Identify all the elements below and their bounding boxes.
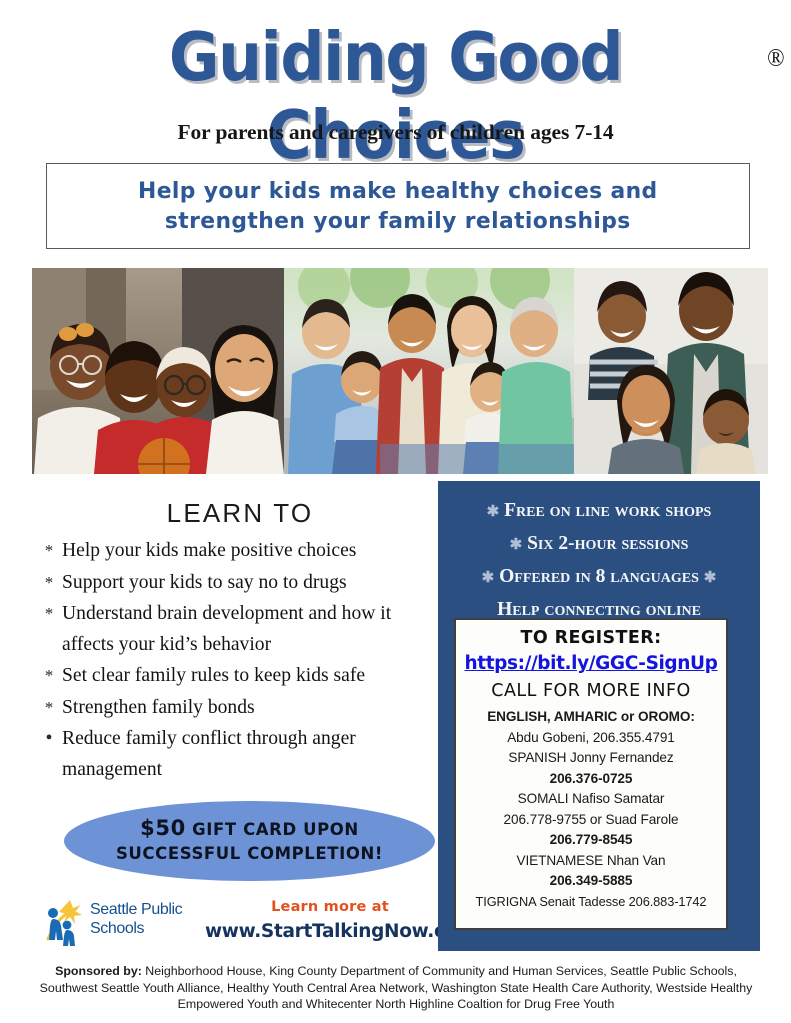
gift-card-line-2: SUCCESSFUL COMPLETION! [116, 842, 383, 866]
bullet-icon: * [36, 568, 62, 599]
contact-row: ENGLISH, AMHARIC or OROMO: [462, 707, 720, 728]
contact-language: ENGLISH, AMHARIC or OROMO: [487, 709, 695, 724]
register-box: TO REGISTER: https://bit.ly/GGC-SignUp C… [454, 618, 728, 930]
list-item: * Understand brain development and how i… [36, 599, 446, 660]
list-item: * Support your kids to say no to drugs [36, 568, 446, 599]
gift-card-line-1: $50 GIFT CARD UPON [116, 816, 383, 842]
contacts-list: ENGLISH, AMHARIC or OROMO: Abdu Gobeni, … [462, 707, 720, 912]
info-panel-bullets: ✱ Free on line work shops ✱ Six 2-hour s… [438, 481, 760, 625]
learn-more-block: Learn more at www.StartTalkingNow.org [205, 899, 455, 942]
photo-girls-group [32, 268, 284, 474]
photo-family-outdoors [284, 268, 574, 474]
gift-card-amount: $50 [140, 816, 186, 840]
contact-phone: 206.376-0725 [550, 771, 633, 786]
photo-strip [32, 268, 768, 474]
call-for-info-label: CALL FOR MORE INFO [462, 681, 720, 701]
contact-row: 206.779-8545 [462, 830, 720, 851]
info-bullet-label: Free on line work shops [504, 500, 711, 521]
list-item: * Strengthen family bonds [36, 693, 446, 724]
asterisk-icon: ✱ [510, 537, 523, 553]
sps-wordmark: Seattle Public Schools [90, 901, 182, 938]
asterisk-icon: ✱ [482, 570, 495, 586]
gift-card-callout: $50 GIFT CARD UPON SUCCESSFUL COMPLETION… [64, 801, 435, 881]
register-link[interactable]: https://bit.ly/GGC-SignUp [462, 653, 720, 674]
registered-trademark-icon: ® [767, 20, 783, 98]
flyer-page: Guiding Good Choices ® For parents and c… [0, 0, 791, 1023]
contact-row: TIGRIGNA Senait Tadesse 206.883-1742 [462, 892, 720, 913]
learn-to-heading: LEARN TO [60, 498, 420, 529]
contact-row: VIETNAMESE Nhan Van [462, 851, 720, 872]
contact-row: 206.376-0725 [462, 769, 720, 790]
gift-card-text: $50 GIFT CARD UPON SUCCESSFUL COMPLETION… [116, 816, 383, 866]
photo-family-illustration [284, 268, 574, 474]
contact-row: 206.349-5885 [462, 871, 720, 892]
sponsors-list: Neighborhood House, King County Departme… [40, 964, 753, 1011]
info-panel: ✱ Free on line work shops ✱ Six 2-hour s… [438, 481, 760, 951]
list-item-label: Reduce family conflict through anger man… [62, 724, 446, 785]
bullet-icon: • [36, 724, 62, 752]
headline-line-2: strengthen your family relationships [138, 206, 658, 236]
photo-girls-illustration [32, 268, 284, 474]
contact-row: SPANISH Jonny Fernandez [462, 748, 720, 769]
list-item: * Help your kids make positive choices [36, 536, 446, 567]
info-bullet-label: Offered in 8 languages [499, 566, 699, 587]
headline-line-1: Help your kids make healthy choices and [138, 176, 658, 206]
learn-to-list: * Help your kids make positive choices *… [36, 536, 446, 786]
list-item-label: Help your kids make positive choices [62, 536, 446, 567]
contact-phone: 206.349-5885 [550, 873, 633, 888]
bullet-icon: * [36, 599, 62, 630]
list-item-label: Strengthen family bonds [62, 693, 446, 724]
sps-wordmark-line-2: Schools [90, 920, 182, 939]
contact-row: 206.778-9755 or Suad Farole [462, 810, 720, 831]
sps-mark-icon [40, 897, 90, 947]
info-bullet-row: ✱ Free on line work shops [446, 495, 752, 528]
info-bullet-row: ✱ Six 2-hour sessions [446, 528, 752, 561]
learn-more-label: Learn more at [205, 899, 455, 915]
info-bullet-label: Six 2-hour sessions [527, 533, 688, 554]
bullet-icon: * [36, 536, 62, 567]
list-item-label: Support your kids to say no to drugs [62, 568, 446, 599]
contact-phone: 206.779-8545 [550, 832, 633, 847]
contact-row: SOMALI Nafiso Samatar [462, 789, 720, 810]
page-title-text: Guiding Good Choices [169, 18, 622, 174]
list-item: • Reduce family conflict through anger m… [36, 724, 446, 785]
sponsors-label: Sponsored by: [55, 964, 142, 978]
learn-more-url[interactable]: www.StartTalkingNow.org [205, 921, 455, 942]
sponsors-text: Sponsored by: Neighborhood House, King C… [38, 963, 754, 1013]
title-block: Guiding Good Choices ® [0, 18, 791, 174]
sps-wordmark-line-1: Seattle Public [90, 901, 182, 920]
page-subtitle: For parents and caregivers of children a… [0, 120, 791, 145]
page-title: Guiding Good Choices ® [32, 18, 760, 174]
photo-family-four [574, 268, 768, 474]
headline-box: Help your kids make healthy choices and … [46, 163, 750, 249]
register-title: TO REGISTER: [462, 628, 720, 648]
headline-text: Help your kids make healthy choices and … [138, 176, 658, 236]
photo-family-four-illustration [574, 268, 768, 474]
seattle-public-schools-logo: Seattle Public Schools [40, 897, 190, 949]
info-bullet-row: ✱ Offered in 8 languages ✱ [446, 561, 752, 594]
bullet-icon: * [36, 693, 62, 724]
list-item-label: Understand brain development and how it … [62, 599, 446, 660]
list-item: * Set clear family rules to keep kids sa… [36, 661, 446, 692]
asterisk-icon: ✱ [487, 504, 500, 520]
bullet-icon: * [36, 661, 62, 692]
gift-card-line-1-rest: GIFT CARD UPON [186, 820, 359, 839]
info-bullet-label: Help connecting online [497, 599, 701, 620]
contact-row: Abdu Gobeni, 206.355.4791 [462, 728, 720, 749]
asterisk-icon-right: ✱ [704, 570, 717, 586]
list-item-label: Set clear family rules to keep kids safe [62, 661, 446, 692]
